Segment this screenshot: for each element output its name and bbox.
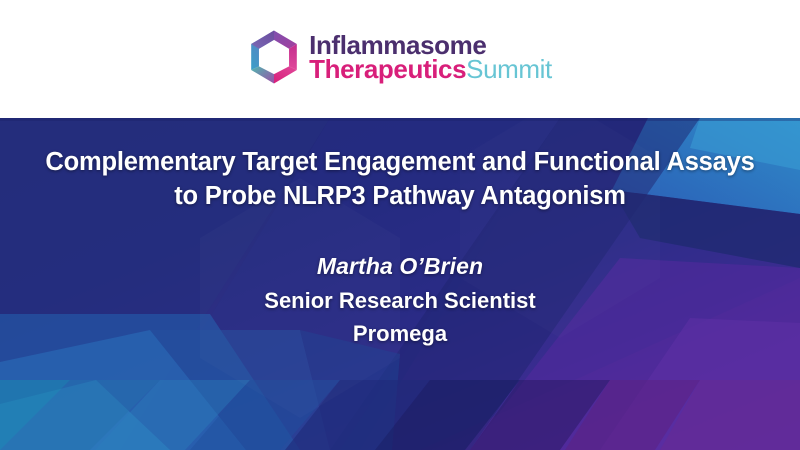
header-logo-band: Inflammasome TherapeuticsSummit <box>0 0 800 118</box>
logo-therapeutics-text: Therapeutics <box>309 54 466 84</box>
conference-logo-text: Inflammasome TherapeuticsSummit <box>309 33 552 82</box>
speaker-name: Martha O’Brien <box>264 249 535 284</box>
slide-artwork-stage: Complementary Target Engagement and Func… <box>0 118 800 450</box>
presentation-title: Complementary Target Engagement and Func… <box>20 146 780 213</box>
presentation-title-slide: Inflammasome TherapeuticsSummit <box>0 0 800 450</box>
presentation-title-line-2: to Probe NLRP3 Pathway Antagonism <box>20 180 780 214</box>
inflammasome-hexagon-logo-mark <box>248 29 300 85</box>
slide-text-content: Complementary Target Engagement and Func… <box>0 118 800 450</box>
logo-therapeutics-summit-text: TherapeuticsSummit <box>309 57 552 81</box>
speaker-details: Martha O’Brien Senior Research Scientist… <box>264 249 535 350</box>
logo-summit-text: Summit <box>466 54 552 84</box>
speaker-organization: Promega <box>264 317 535 350</box>
presentation-title-line-1: Complementary Target Engagement and Func… <box>20 146 780 180</box>
conference-logo: Inflammasome TherapeuticsSummit <box>248 29 552 85</box>
speaker-role: Senior Research Scientist <box>264 284 535 317</box>
